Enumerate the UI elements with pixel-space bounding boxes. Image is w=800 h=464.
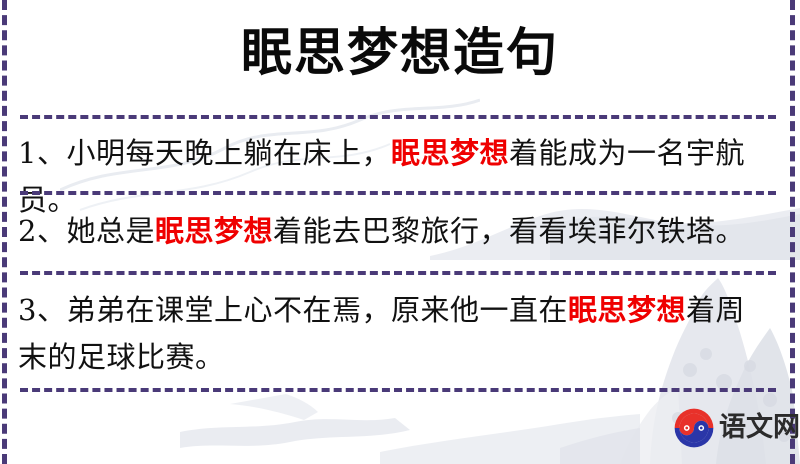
sentence-3-index: 3、 xyxy=(18,293,66,327)
sentence-item-2: 2、她总是眠思梦想着能去巴黎旅行，看看埃菲尔铁塔。 xyxy=(18,208,774,255)
ink-wash-watermark-boat xyxy=(80,390,640,464)
site-logo[interactable]: 语文网 xyxy=(672,404,800,452)
sentence-1-index: 1、 xyxy=(18,136,66,170)
sentence-3-keyword: 眠思梦想 xyxy=(568,293,686,327)
separator-line-2 xyxy=(20,191,776,195)
separator-line-1 xyxy=(20,115,776,119)
sentence-2-index: 2、 xyxy=(18,214,66,248)
sentence-1-keyword: 眠思梦想 xyxy=(391,136,509,170)
sentence-2-keyword: 眠思梦想 xyxy=(155,214,273,248)
sentence-2-before: 她总是 xyxy=(66,214,155,248)
worksheet-page: 眠思梦想造句 1、小明每天晚上躺在床上，眠思梦想着能成为一名宇航员。 2、她总是… xyxy=(0,0,800,464)
sentence-2-after: 着能去巴黎旅行，看看埃菲尔铁塔。 xyxy=(273,214,745,248)
frame-rail-right xyxy=(790,0,795,464)
separator-line-3 xyxy=(20,271,776,275)
sentence-item-3: 3、弟弟在课堂上心不在焉，原来他一直在眠思梦想着周末的足球比赛。 xyxy=(18,287,774,381)
yinyang-fish-icon xyxy=(672,406,716,450)
separator-line-4 xyxy=(20,388,776,392)
page-title: 眠思梦想造句 xyxy=(0,20,800,86)
sentence-3-before: 弟弟在课堂上心不在焉，原来他一直在 xyxy=(66,293,568,327)
frame-rail-left xyxy=(2,0,7,464)
site-logo-text: 语文网 xyxy=(719,413,800,443)
sentence-1-before: 小明每天晚上躺在床上， xyxy=(66,136,391,170)
